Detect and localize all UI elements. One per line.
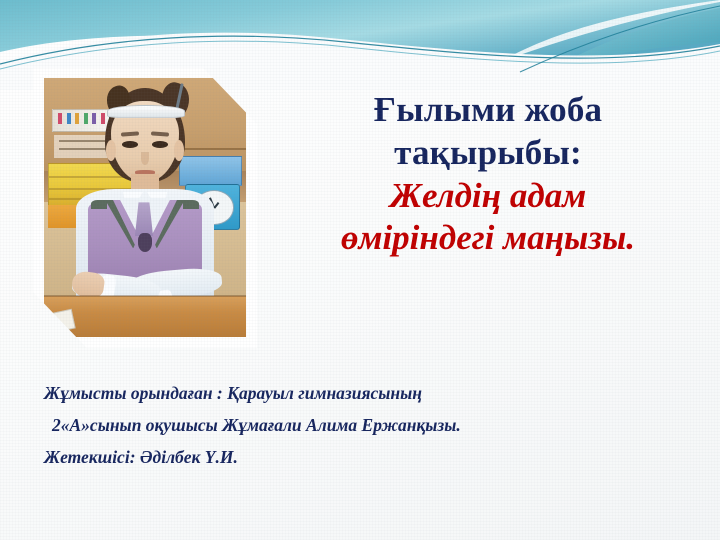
subtitle-line-1: Желдің адам (268, 175, 708, 218)
ear-right (174, 140, 184, 161)
vest-shoulder-left (91, 200, 107, 209)
presentation-slide: Ғылыми жоба тақырыбы: Желдің адам өмірін… (0, 0, 720, 540)
title-block: Ғылыми жоба тақырыбы: Желдің адам өмірін… (268, 88, 708, 260)
headband (107, 105, 186, 117)
title-line-1: Ғылыми жоба (268, 88, 708, 131)
necktie-knot (138, 233, 152, 251)
vest-shoulder-right (183, 200, 199, 209)
credits-block: Жұмысты орындаған : Қарауыл гимназиясыны… (44, 378, 684, 474)
classroom-scene (44, 78, 246, 337)
desk-edge (44, 295, 246, 297)
credit-line-author-school: Жұмысты орындаған : Қарауыл гимназиясыны… (44, 378, 684, 410)
title-line-2: тақырыбы: (268, 131, 708, 174)
credit-line-supervisor: Жетекшісі: Әділбек Ү.И. (44, 442, 684, 474)
nose (141, 152, 149, 165)
ear-left (106, 140, 116, 161)
photo-frame (33, 68, 257, 348)
credit-line-class-student: 2«А»сынып оқушысы Жұмағали Алима Ержанқы… (44, 410, 684, 442)
student-portrait-photo (44, 78, 246, 337)
desk (44, 296, 246, 337)
subtitle-line-2: өміріндегі маңызы. (268, 217, 708, 260)
